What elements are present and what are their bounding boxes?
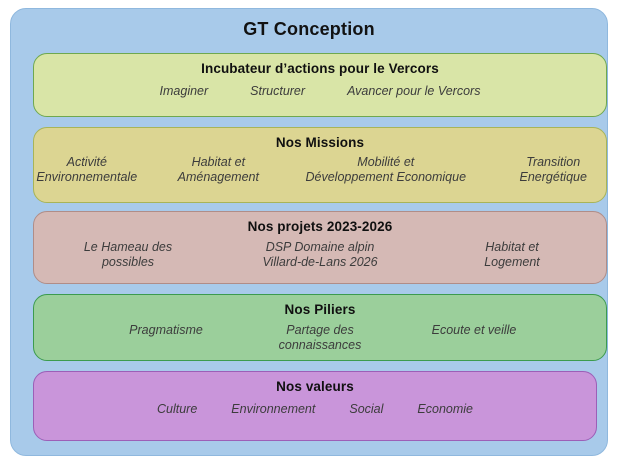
item-imaginer[interactable]: Imaginer: [160, 84, 209, 99]
section-projets-items: Le Hameau des possibles DSP Domaine alpi…: [34, 240, 606, 270]
section-valeurs-title: Nos valeurs: [34, 379, 596, 394]
item-economie[interactable]: Economie: [417, 402, 473, 417]
item-habitat-et-logement[interactable]: Habitat et Logement: [446, 240, 578, 270]
item-partage-des-connaissances[interactable]: Partage des connaissances: [265, 323, 375, 353]
diagram-title: GT Conception: [11, 19, 607, 40]
item-structurer[interactable]: Structurer: [250, 84, 305, 99]
diagram-canvas: GT Conception Incubateur d’actions pour …: [0, 0, 618, 470]
item-dsp-domaine-alpin-villard-de-lans-2026[interactable]: DSP Domaine alpin Villard-de-Lans 2026: [240, 240, 400, 270]
item-ecoute-et-veille[interactable]: Ecoute et veille: [419, 323, 529, 338]
section-valeurs[interactable]: Nos valeurs Culture Environnement Social…: [33, 371, 597, 441]
section-projets[interactable]: Nos projets 2023-2026 Le Hameau des poss…: [33, 211, 607, 284]
item-le-hameau-des-possibles[interactable]: Le Hameau des possibles: [62, 240, 194, 270]
item-habitat-et-amenagement[interactable]: Habitat et Aménagement: [166, 155, 272, 185]
section-missions-items: Activité Environnementale Habitat et Amé…: [34, 155, 606, 185]
section-piliers-items: Pragmatisme Partage des connaissances Ec…: [34, 323, 606, 353]
item-social[interactable]: Social: [349, 402, 383, 417]
item-activite-environnementale[interactable]: Activité Environnementale: [34, 155, 140, 185]
item-pragmatisme[interactable]: Pragmatisme: [111, 323, 221, 338]
item-avancer-pour-le-vercors[interactable]: Avancer pour le Vercors: [347, 84, 480, 99]
section-piliers[interactable]: Nos Piliers Pragmatisme Partage des conn…: [33, 294, 607, 361]
item-culture[interactable]: Culture: [157, 402, 197, 417]
section-projets-title: Nos projets 2023-2026: [34, 219, 606, 234]
section-missions[interactable]: Nos Missions Activité Environnementale H…: [33, 127, 607, 203]
section-valeurs-items: Culture Environnement Social Economie: [34, 402, 596, 417]
item-transition-energetique[interactable]: Transition Energétique: [500, 155, 606, 185]
section-incubateur-title: Incubateur d’actions pour le Vercors: [34, 61, 606, 76]
section-incubateur[interactable]: Incubateur d’actions pour le Vercors Ima…: [33, 53, 607, 117]
section-piliers-title: Nos Piliers: [34, 302, 606, 317]
item-environnement[interactable]: Environnement: [231, 402, 315, 417]
item-mobilite-et-developpement-economique[interactable]: Mobilité et Développement Economique: [297, 155, 474, 185]
gt-conception-container: GT Conception Incubateur d’actions pour …: [10, 8, 608, 456]
section-missions-title: Nos Missions: [34, 135, 606, 150]
section-incubateur-items: Imaginer Structurer Avancer pour le Verc…: [34, 84, 606, 99]
